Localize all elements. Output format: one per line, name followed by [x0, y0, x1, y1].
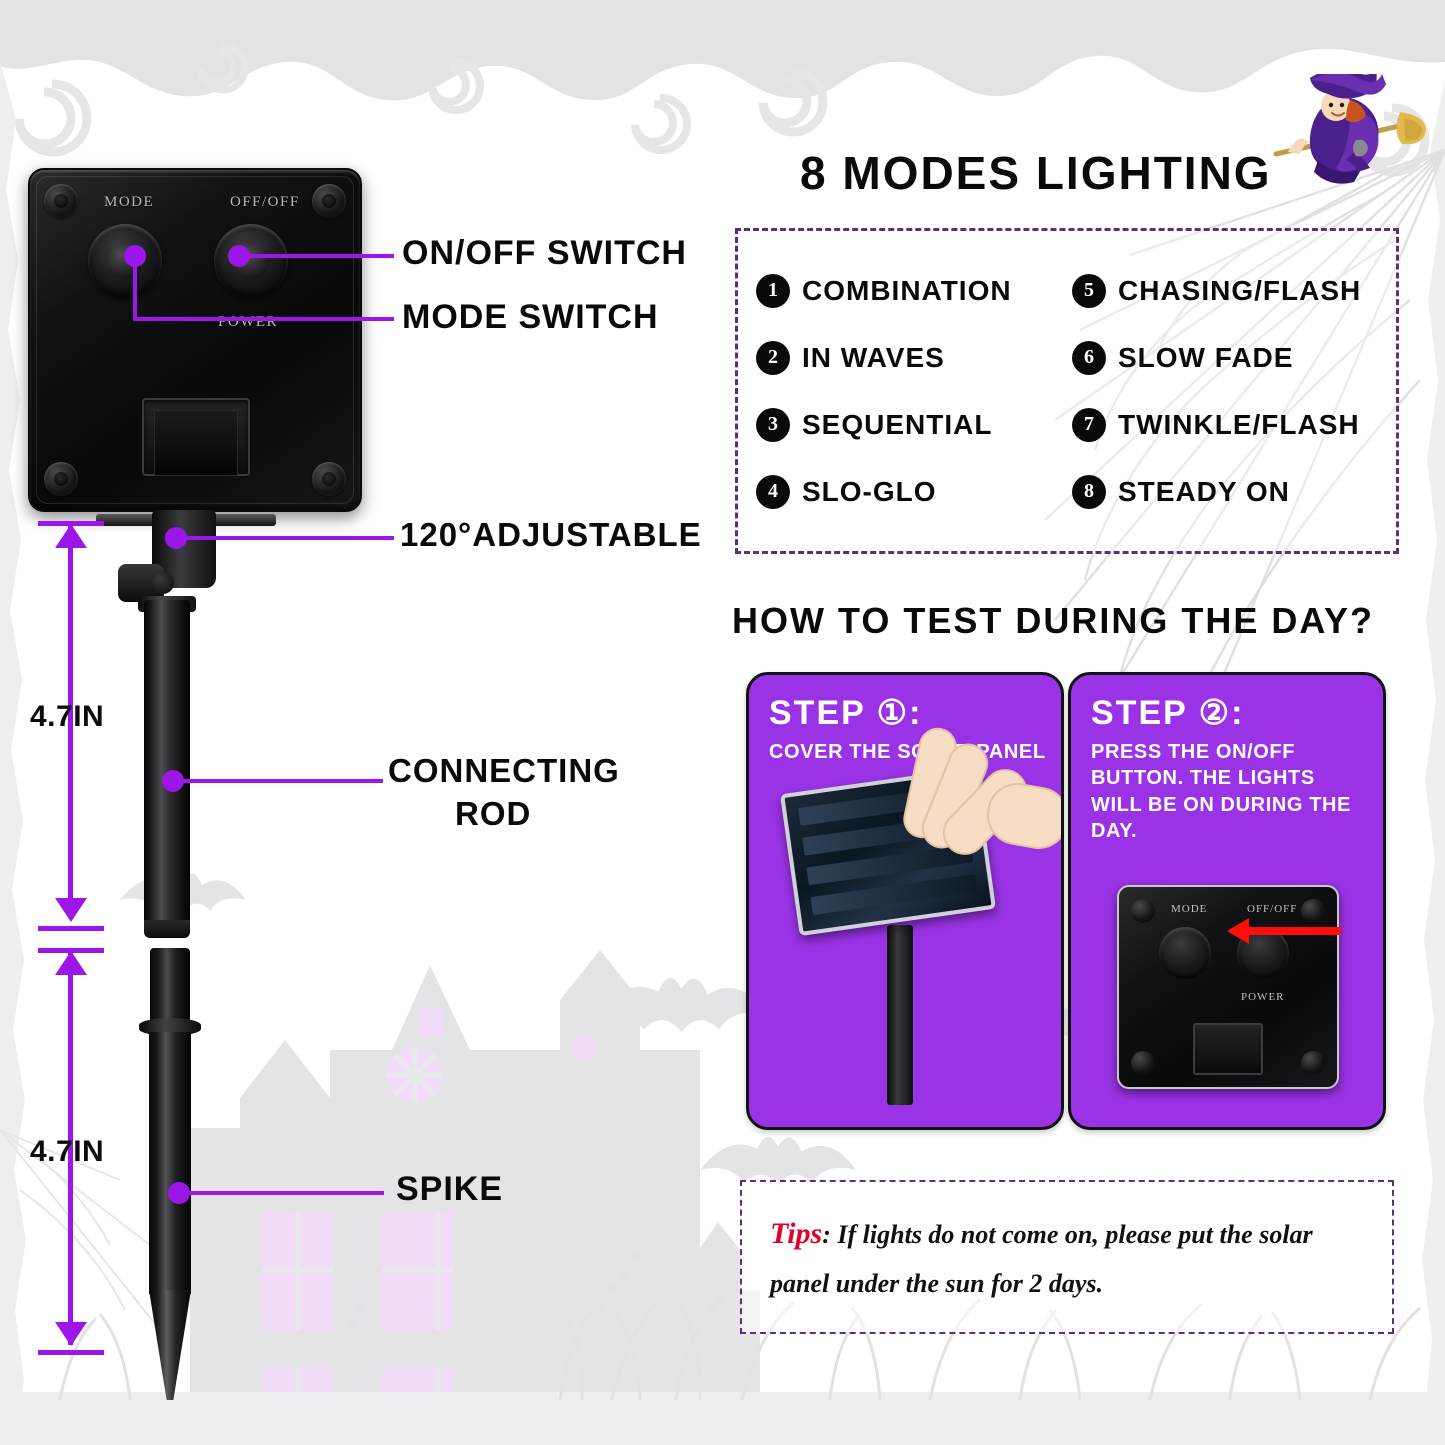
- mode-number: 8: [1072, 475, 1106, 509]
- pointer-arrow-icon: [1247, 927, 1341, 935]
- tips-box: Tips: If lights do not come on, please p…: [740, 1180, 1394, 1334]
- tips-text: Tips: If lights do not come on, please p…: [770, 1208, 1368, 1306]
- mode-item: 7 TWINKLE/FLASH: [1072, 391, 1378, 458]
- mode-item: 2 IN WAVES: [756, 324, 1062, 391]
- mode-item: 5 CHASING/FLASH: [1072, 257, 1378, 324]
- mode-label: TWINKLE/FLASH: [1118, 409, 1360, 441]
- screw-icon: [1301, 1051, 1325, 1075]
- dimension-spike-value: 4.7IN: [30, 1135, 104, 1169]
- spike-body: [149, 1032, 191, 1294]
- tips-body: If lights do not come on, please put the…: [770, 1220, 1313, 1298]
- infographic-canvas: MODE OFF/OFF POWER 4.7IN: [0, 0, 1445, 1445]
- screw-icon: [312, 184, 346, 218]
- mode-number: 2: [756, 341, 790, 375]
- modes-grid: 1 COMBINATION 5 CHASING/FLASH 2 IN WAVES…: [756, 257, 1378, 525]
- spike-top: [150, 948, 190, 1020]
- callout-mode-switch-label: MODE SWITCH: [402, 298, 659, 337]
- step2-battery-port: [1193, 1023, 1263, 1075]
- onoff-power-button[interactable]: [214, 224, 288, 298]
- step-1-title: STEP ①:: [769, 693, 922, 733]
- info-column: 8 MODES LIGHTING 1 COMBINATION 5 CHASING…: [720, 0, 1445, 1445]
- step-2-body: PRESS THE ON/OFF BUTTON. THE LIGHTS WILL…: [1091, 739, 1369, 845]
- product-diagram: MODE OFF/OFF POWER 4.7IN: [0, 0, 720, 1445]
- howto-title: HOW TO TEST DURING THE DAY?: [732, 600, 1374, 642]
- mode-label: SEQUENTIAL: [802, 409, 992, 441]
- callout-connecting-rod-line2: ROD: [455, 795, 531, 833]
- step2-onoff-label: OFF/OFF: [1247, 903, 1297, 915]
- onoff-label: OFF/OFF: [230, 194, 300, 211]
- modes-title: 8 MODES LIGHTING: [800, 146, 1272, 200]
- mode-label: STEADY ON: [1118, 476, 1290, 508]
- step1-pole: [887, 925, 913, 1105]
- mode-item: 4 SLO-GLO: [756, 458, 1062, 525]
- mode-label: IN WAVES: [802, 342, 945, 374]
- mode-number: 1: [756, 274, 790, 308]
- mode-label: SLO-GLO: [802, 476, 937, 508]
- callout-adjustable-label: 120°ADJUSTABLE: [400, 516, 702, 554]
- mode-label: COMBINATION: [802, 275, 1012, 307]
- screw-icon: [44, 462, 78, 496]
- step-2-title: STEP ②:: [1091, 693, 1244, 733]
- modes-box: 1 COMBINATION 5 CHASING/FLASH 2 IN WAVES…: [735, 228, 1399, 554]
- dimension-rod-value: 4.7IN: [30, 700, 104, 734]
- callout-spike-label: SPIKE: [396, 1170, 503, 1209]
- mode-number: 7: [1072, 408, 1106, 442]
- mode-item: 3 SEQUENTIAL: [756, 391, 1062, 458]
- mode-item: 6 SLOW FADE: [1072, 324, 1378, 391]
- screw-icon: [312, 462, 346, 496]
- screw-icon: [1131, 1051, 1155, 1075]
- mode-label: MODE: [104, 194, 154, 211]
- mode-label: CHASING/FLASH: [1118, 275, 1361, 307]
- spike-tip: [149, 1290, 191, 1400]
- step2-controller: MODE OFF/OFF POWER: [1117, 885, 1339, 1089]
- solar-controller-housing: MODE OFF/OFF POWER: [28, 168, 362, 512]
- step-card-2: STEP ②: PRESS THE ON/OFF BUTTON. THE LIG…: [1068, 672, 1386, 1130]
- step-card-1: STEP ①: COVER THE SOLAR PANEL: [746, 672, 1064, 1130]
- mode-number: 3: [756, 408, 790, 442]
- mode-label: SLOW FADE: [1118, 342, 1293, 374]
- mode-item: 8 STEADY ON: [1072, 458, 1378, 525]
- callout-connecting-rod-line1: CONNECTING: [388, 752, 620, 790]
- hand-icon: [909, 727, 1064, 877]
- mode-number: 4: [756, 475, 790, 509]
- witch-on-broom-icon: [1258, 74, 1428, 184]
- screw-icon: [44, 184, 78, 218]
- tips-separator: :: [822, 1220, 837, 1249]
- step2-mode-label: MODE: [1171, 903, 1207, 915]
- mode-number: 6: [1072, 341, 1106, 375]
- callout-on-off-switch-label: ON/OFF SWITCH: [402, 234, 687, 273]
- step2-power-label: POWER: [1241, 991, 1285, 1003]
- connecting-rod: [144, 600, 190, 935]
- mode-number: 5: [1072, 274, 1106, 308]
- step2-mode-button[interactable]: [1159, 927, 1211, 979]
- mode-item: 1 COMBINATION: [756, 257, 1062, 324]
- tips-keyword: Tips: [770, 1217, 822, 1250]
- rod-end: [144, 920, 190, 938]
- screw-icon: [1301, 899, 1325, 923]
- screw-icon: [1131, 899, 1155, 923]
- battery-port: [142, 398, 250, 476]
